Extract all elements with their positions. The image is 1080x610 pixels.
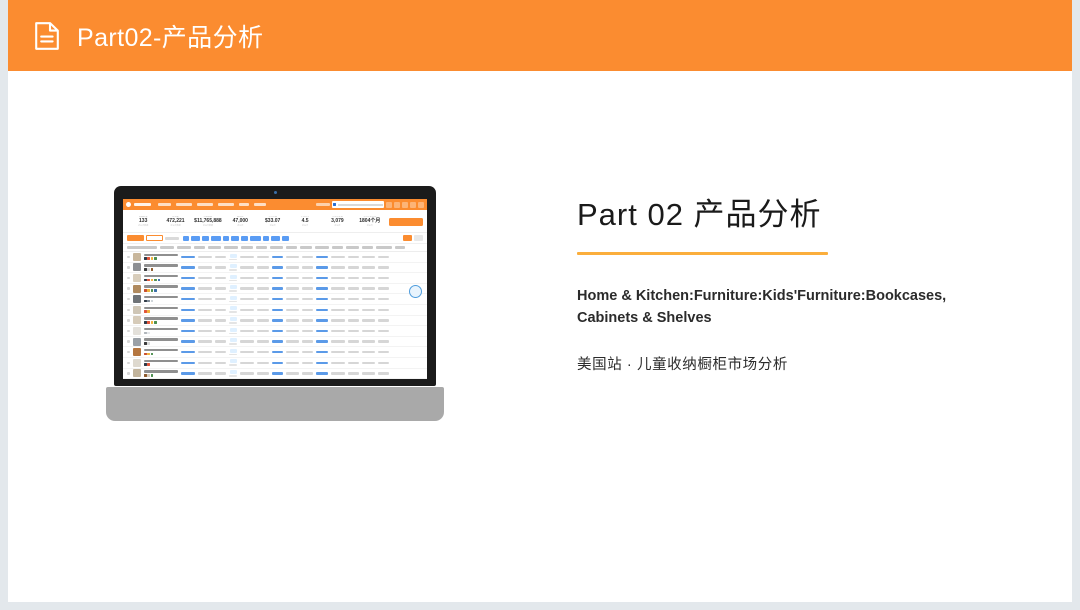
product-thumbnail [133, 359, 141, 367]
table-cell [215, 351, 226, 353]
table-cell [378, 362, 389, 364]
table-cell [302, 298, 313, 300]
product-name [144, 307, 178, 309]
stat-card: 商品数量 133 近30天数据 [127, 216, 159, 228]
table-cell [316, 256, 328, 258]
table-cell [348, 340, 359, 342]
product-thumbnail [133, 253, 141, 261]
row-checkbox[interactable] [127, 372, 130, 374]
variant-swatches [144, 310, 178, 313]
table-cell [198, 266, 212, 268]
table-cell [198, 256, 212, 258]
table-cell [378, 277, 389, 279]
table-cell [181, 277, 195, 279]
stat-card: 平均价格 $33.07 近30天 [257, 216, 289, 228]
variant-swatches [144, 300, 178, 303]
table-row[interactable] [123, 263, 427, 274]
product-title-cell[interactable] [144, 275, 178, 281]
stat-card: 月销售额 $11,765,888 近30天数据 [192, 216, 224, 228]
product-title-cell[interactable] [144, 285, 178, 291]
table-cell [378, 256, 389, 258]
header-title: Part02-产品分析 [77, 18, 263, 54]
table-cell [257, 362, 269, 364]
stat-card: 平均上架时间 1804个月 近30天 [354, 216, 386, 228]
list-view-icon[interactable] [403, 235, 412, 241]
table-body [123, 252, 427, 379]
product-title-cell[interactable] [144, 317, 178, 323]
table-cell [378, 372, 389, 374]
table-cell [272, 287, 283, 289]
table-cell [272, 298, 283, 300]
table-cell [257, 372, 269, 374]
table-row[interactable] [123, 316, 427, 327]
table-cell [257, 309, 269, 311]
table-cell [272, 351, 283, 353]
table-cell [348, 277, 359, 279]
rank-badge [229, 264, 237, 271]
stat-value: 472,221 [159, 219, 191, 224]
table-cell [316, 266, 328, 268]
table-cell [240, 319, 254, 321]
table-cell [181, 298, 195, 300]
table-cell [362, 330, 375, 332]
stat-card: 月销量 472,221 近30天数据 [159, 216, 191, 228]
product-name [144, 296, 178, 298]
row-checkbox[interactable] [127, 340, 130, 342]
row-checkbox[interactable] [127, 266, 130, 268]
product-title-cell[interactable] [144, 370, 178, 376]
table-cell [240, 266, 254, 268]
stat-sub: 近30天数据 [192, 225, 224, 227]
table-cell [286, 340, 299, 342]
stat-sub: 近30天 [224, 225, 256, 227]
stat-card: 品牌数 47,000 近30天 [224, 216, 256, 228]
toolbar-label [165, 237, 179, 240]
table-cell [272, 309, 283, 311]
table-row[interactable] [123, 284, 427, 295]
stat-card: 平均评分 4.5 近30天 [289, 216, 321, 228]
table-cell [272, 256, 283, 258]
stat-label: 月销量 [159, 216, 191, 218]
table-cell [181, 330, 195, 332]
table-cell [240, 287, 254, 289]
table-cell [286, 298, 299, 300]
table-cell [240, 372, 254, 374]
rank-badge [229, 370, 237, 377]
table-cell [378, 351, 389, 353]
dashboard-navbar [123, 199, 427, 210]
table-cell [302, 372, 313, 374]
rank-badge [229, 328, 237, 335]
table-cell [378, 287, 389, 289]
table-row[interactable] [123, 369, 427, 379]
stat-label: 月销售额 [192, 216, 224, 218]
table-cell [215, 330, 226, 332]
table-cell [331, 362, 345, 364]
table-cell [181, 319, 195, 321]
table-cell [286, 256, 299, 258]
table-cell [316, 362, 328, 364]
row-checkbox[interactable] [127, 256, 130, 258]
table-cell [215, 372, 226, 374]
table-cell [316, 277, 328, 279]
table-cell [181, 362, 195, 364]
product-title-cell[interactable] [144, 328, 178, 334]
product-thumbnail [133, 274, 141, 282]
slide-content: Part 02 产品分析 Home & Kitchen:Furniture:Ki… [577, 196, 1007, 374]
filter-icon[interactable] [386, 202, 392, 208]
export-data-button[interactable] [389, 218, 423, 226]
table-cell [316, 298, 328, 300]
table-row[interactable] [123, 252, 427, 263]
product-thumbnail [133, 316, 141, 324]
table-cell [378, 340, 389, 342]
filter-conditions-button[interactable] [127, 235, 144, 241]
table-cell [362, 351, 375, 353]
table-cell [257, 256, 269, 258]
product-title-cell[interactable] [144, 296, 178, 302]
product-thumbnail [133, 263, 141, 271]
table-cell [215, 287, 226, 289]
avatar[interactable] [418, 202, 424, 208]
bell-icon[interactable] [402, 202, 408, 208]
table-cell [362, 287, 375, 289]
product-name [144, 349, 178, 351]
stat-sub: 近30天数据 [159, 225, 191, 227]
table-cell [240, 340, 254, 342]
table-cell [257, 351, 269, 353]
table-cell [362, 277, 375, 279]
table-cell [198, 362, 212, 364]
table-cell [316, 372, 328, 374]
table-cell [302, 256, 313, 258]
table-cell [240, 298, 254, 300]
rank-badge [229, 349, 237, 356]
table-cell [302, 309, 313, 311]
row-checkbox[interactable] [127, 287, 130, 289]
table-cell [302, 362, 313, 364]
product-name [144, 275, 178, 277]
product-name [144, 264, 178, 266]
stat-value: 1804个月 [354, 219, 386, 224]
table-cell [272, 277, 283, 279]
rank-badge [229, 359, 237, 366]
table-cell [286, 319, 299, 321]
table-cell [348, 298, 359, 300]
page-title: Part 02 产品分析 [577, 196, 1007, 235]
stat-sub: 近30天 [257, 225, 289, 227]
table-cell [198, 351, 212, 353]
product-title-cell[interactable] [144, 338, 178, 344]
table-cell [362, 372, 375, 374]
verified-badge-icon [409, 285, 422, 298]
table-cell [316, 309, 328, 311]
rank-badge [229, 306, 237, 313]
table-cell [362, 319, 375, 321]
table-cell [378, 330, 389, 332]
table-cell [286, 277, 299, 279]
table-row[interactable] [123, 273, 427, 284]
variant-swatches [144, 374, 178, 377]
table-cell [272, 330, 283, 332]
table-cell [348, 372, 359, 374]
table-cell [348, 256, 359, 258]
table-cell [198, 298, 212, 300]
table-row[interactable] [123, 337, 427, 348]
product-thumbnail [133, 348, 141, 356]
product-name [144, 328, 178, 330]
table-cell [348, 319, 359, 321]
table-cell [272, 372, 283, 374]
table-cell [181, 309, 195, 311]
table-cell [240, 351, 254, 353]
grid-view-icon[interactable] [414, 235, 423, 241]
stat-value: $33.07 [257, 219, 289, 224]
variant-swatches [144, 342, 178, 345]
table-header-row [123, 244, 427, 252]
product-title-cell[interactable] [144, 264, 178, 270]
variant-swatches [144, 279, 178, 282]
table-cell [302, 330, 313, 332]
table-cell [302, 287, 313, 289]
row-checkbox[interactable] [127, 277, 130, 279]
table-row[interactable] [123, 347, 427, 358]
stat-value: 133 [127, 219, 159, 224]
stat-label: 商品数量 [127, 216, 159, 218]
table-cell [302, 319, 313, 321]
product-name [144, 370, 178, 372]
table-cell [240, 330, 254, 332]
search-placeholder [338, 204, 384, 206]
table-cell [181, 256, 195, 258]
table-cell [362, 266, 375, 268]
variant-swatches [144, 353, 178, 356]
table-cell [181, 340, 195, 342]
table-cell [198, 309, 212, 311]
row-checkbox[interactable] [127, 362, 130, 364]
table-cell [215, 298, 226, 300]
toolbar-view-toggle[interactable] [403, 235, 423, 241]
dashboard-toolbar [123, 233, 427, 244]
rank-badge [229, 338, 237, 345]
table-cell [316, 330, 328, 332]
title-underline [577, 252, 828, 255]
table-cell [272, 266, 283, 268]
table-cell [198, 319, 212, 321]
table-cell [286, 287, 299, 289]
product-name [144, 254, 178, 256]
table-cell [215, 266, 226, 268]
table-cell [316, 319, 328, 321]
table-cell [257, 340, 269, 342]
table-cell [331, 256, 345, 258]
dashboard-stats: 商品数量 133 近30天数据 月销量 472,221 近30天数据 月销售额 … [123, 210, 427, 233]
slide-header: Part02-产品分析 [8, 0, 1072, 71]
table-cell [198, 340, 212, 342]
table-cell [240, 362, 254, 364]
download-data-button[interactable] [146, 235, 163, 241]
table-cell [331, 298, 345, 300]
product-name [144, 338, 178, 340]
table-cell [286, 362, 299, 364]
table-cell [257, 266, 269, 268]
table-cell [272, 319, 283, 321]
device-mockup: 商品数量 133 近30天数据 月销量 472,221 近30天数据 月销售额 … [106, 186, 444, 421]
table-cell [198, 277, 212, 279]
table-cell [240, 277, 254, 279]
market-note: 美国站 · 儿童收纳橱柜市场分析 [577, 353, 1007, 374]
nav-menu [158, 203, 266, 206]
stat-value: $11,765,888 [192, 219, 224, 224]
device-bezel: 商品数量 133 近30天数据 月销量 472,221 近30天数据 月销售额 … [114, 186, 436, 386]
table-cell [331, 372, 345, 374]
rank-badge [229, 296, 237, 303]
table-cell [286, 266, 299, 268]
table-cell [362, 298, 375, 300]
search-input[interactable] [332, 201, 384, 208]
product-thumbnail [133, 295, 141, 303]
row-checkbox[interactable] [127, 309, 130, 311]
stat-label: 品牌数 [224, 216, 256, 218]
device-base [106, 387, 444, 421]
table-cell [215, 340, 226, 342]
row-checkbox[interactable] [127, 351, 130, 353]
variant-swatches [144, 332, 178, 335]
table-row[interactable] [123, 326, 427, 337]
table-cell [362, 309, 375, 311]
search-icon [333, 203, 336, 206]
table-cell [257, 330, 269, 332]
table-cell [348, 287, 359, 289]
table-cell [348, 362, 359, 364]
table-cell [331, 319, 345, 321]
row-checkbox[interactable] [127, 298, 130, 300]
brand-name [134, 203, 151, 207]
table-cell [362, 340, 375, 342]
stat-label: 平均价格 [257, 216, 289, 218]
table-cell [316, 340, 328, 342]
table-cell [316, 287, 328, 289]
brand-logo-icon [126, 202, 131, 207]
stat-sub: 近30天 [289, 225, 321, 227]
table-cell [378, 319, 389, 321]
table-cell [348, 351, 359, 353]
stat-label: 平均上架时间 [354, 216, 386, 218]
table-cell [331, 309, 345, 311]
table-cell [378, 309, 389, 311]
table-cell [286, 372, 299, 374]
stat-value: 4.5 [289, 219, 321, 224]
variant-swatches [144, 321, 178, 324]
table-cell [286, 351, 299, 353]
table-cell [198, 287, 212, 289]
table-cell [331, 287, 345, 289]
table-cell [302, 277, 313, 279]
dashboard-screenshot: 商品数量 133 近30天数据 月销量 472,221 近30天数据 月销售额 … [123, 199, 427, 379]
variant-swatches [144, 257, 178, 260]
stat-card: 平均评论数 3,079 近30天 [321, 216, 353, 228]
table-cell [272, 362, 283, 364]
table-cell [331, 277, 345, 279]
table-cell [272, 340, 283, 342]
table-cell [257, 277, 269, 279]
table-cell [257, 298, 269, 300]
table-cell [331, 351, 345, 353]
slide-canvas: Part02-产品分析 [8, 0, 1072, 602]
table-cell [286, 330, 299, 332]
filter-chip-group[interactable] [183, 236, 289, 241]
table-cell [257, 287, 269, 289]
table-cell [378, 298, 389, 300]
product-name [144, 317, 178, 319]
table-cell [257, 319, 269, 321]
nav-label [316, 203, 330, 206]
grid-icon[interactable] [394, 202, 400, 208]
table-cell [331, 330, 345, 332]
table-cell [181, 351, 195, 353]
variant-swatches [144, 363, 178, 366]
table-cell [302, 351, 313, 353]
table-cell [215, 277, 226, 279]
stat-value: 3,079 [321, 219, 353, 224]
stat-value: 47,000 [224, 219, 256, 224]
row-checkbox[interactable] [127, 319, 130, 321]
camera-dot [274, 191, 277, 194]
variant-swatches [144, 268, 178, 271]
table-cell [240, 256, 254, 258]
product-thumbnail [133, 285, 141, 293]
table-cell [240, 309, 254, 311]
table-cell [316, 351, 328, 353]
help-icon[interactable] [410, 202, 416, 208]
product-title-cell[interactable] [144, 254, 178, 260]
table-cell [215, 362, 226, 364]
stat-sub: 近30天 [354, 225, 386, 227]
row-checkbox[interactable] [127, 330, 130, 332]
navbar-right-tools [316, 201, 424, 208]
product-thumbnail [133, 306, 141, 314]
table-row[interactable] [123, 358, 427, 369]
table-cell [215, 256, 226, 258]
table-cell [181, 287, 195, 289]
table-cell [348, 330, 359, 332]
product-thumbnail [133, 327, 141, 335]
category-path: Home & Kitchen:Furniture:Kids'Furniture:… [577, 285, 981, 330]
rank-badge [229, 275, 237, 282]
product-name [144, 285, 178, 287]
table-row[interactable] [123, 305, 427, 316]
table-cell [198, 372, 212, 374]
product-title-cell[interactable] [144, 307, 178, 313]
product-title-cell[interactable] [144, 349, 178, 355]
product-title-cell[interactable] [144, 360, 178, 366]
table-cell [362, 362, 375, 364]
table-cell [286, 309, 299, 311]
table-cell [331, 340, 345, 342]
table-cell [362, 256, 375, 258]
rank-badge [229, 285, 237, 292]
table-cell [181, 372, 195, 374]
variant-swatches [144, 289, 178, 292]
table-cell [302, 340, 313, 342]
stat-label: 平均评论数 [321, 216, 353, 218]
rank-badge [229, 317, 237, 324]
product-name [144, 360, 178, 362]
table-cell [378, 266, 389, 268]
table-row[interactable] [123, 294, 427, 305]
table-cell [348, 266, 359, 268]
table-cell [198, 330, 212, 332]
